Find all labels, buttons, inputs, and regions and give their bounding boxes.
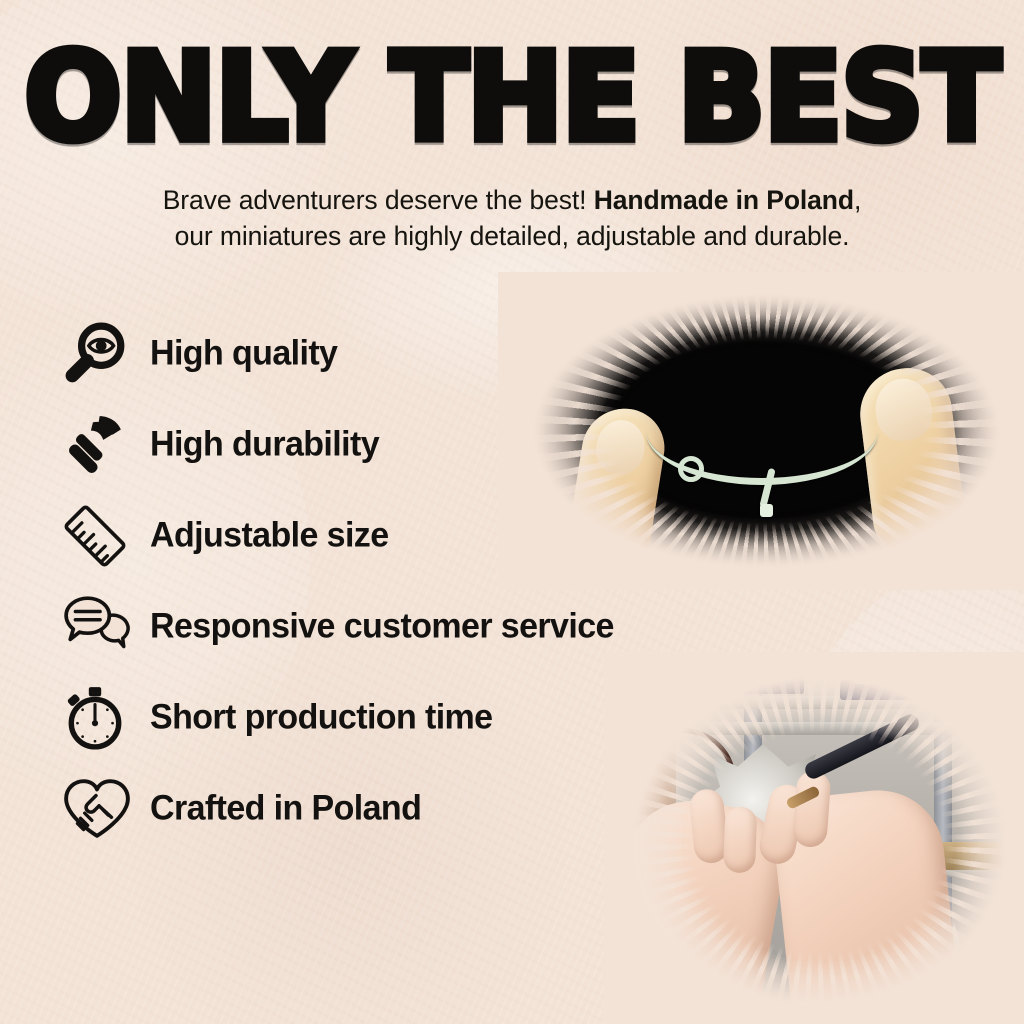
flexible-miniature-photo: [498, 272, 1024, 590]
workshop-painting-photo: [604, 652, 1024, 1024]
miniature-tray: [724, 676, 804, 694]
feature-label: High durability: [150, 424, 379, 464]
speech-bubbles-icon: [62, 590, 140, 664]
magnifier-eye-icon: [62, 317, 140, 391]
thumbnail-right: [872, 375, 935, 443]
feature-label: Responsive customer service: [150, 606, 614, 646]
miniature-tip-detail: [760, 504, 773, 517]
sprue-parts: [854, 672, 966, 684]
thumbnail-left: [593, 417, 649, 478]
ruler-icon: [62, 499, 140, 573]
workshop-scene: [604, 652, 1024, 1024]
subtitle-line2: our miniatures are highly detailed, adju…: [175, 221, 850, 251]
feature-label: Crafted in Poland: [150, 788, 421, 828]
subtitle-highlight: Handmade in Poland: [594, 185, 854, 215]
miniature-ring-detail: [678, 456, 704, 482]
feature-label: Short production time: [150, 697, 493, 737]
feature-label: Adjustable size: [150, 515, 389, 555]
headline-container: ONLY THE BEST: [0, 38, 1024, 146]
subtitle: Brave adventurers deserve the best! Hand…: [0, 182, 1024, 254]
promo-poster: ONLY THE BEST Brave adventurers deserve …: [0, 0, 1024, 1024]
hand-right: [770, 784, 962, 1024]
hammer-icon: [62, 408, 140, 482]
finger: [723, 806, 757, 873]
finger: [792, 770, 831, 848]
stopwatch-icon: [62, 681, 140, 755]
page-title: ONLY THE BEST: [24, 38, 999, 159]
subtitle-line1-after: ,: [854, 185, 861, 215]
subtitle-line1-before: Brave adventurers deserve the best!: [163, 185, 594, 215]
feature-label: High quality: [150, 333, 337, 373]
heart-handshake-icon: [62, 772, 140, 846]
shelf-board: [700, 722, 1000, 735]
